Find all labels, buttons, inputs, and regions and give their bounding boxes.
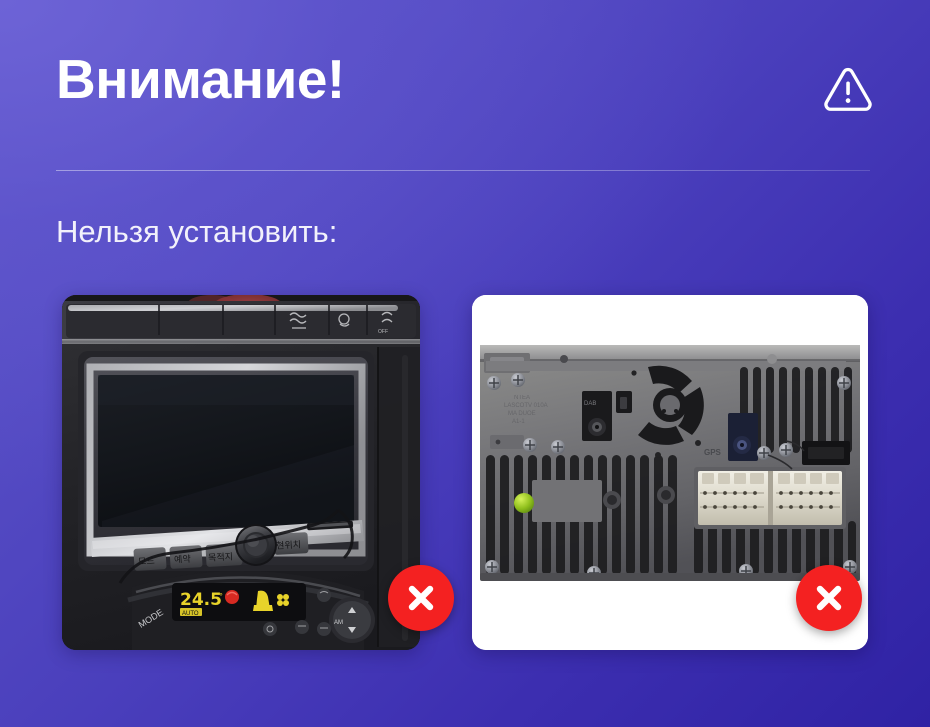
svg-text:24.5: 24.5 [180,590,222,610]
svg-text:예약: 예약 [174,553,191,566]
svg-text:°: ° [219,592,223,601]
svg-text:AUTO: AUTO [182,611,199,617]
subtitle-label: Нельзя установить: [56,214,337,250]
cross-x-icon [812,581,846,615]
warning-slide: Внимание! Нельзя установить: [0,0,930,727]
svg-text:GPS: GPS [704,448,722,457]
svg-text:A1-1: A1-1 [512,419,525,425]
photo-card-row: OFF [0,295,930,651]
svg-text:MA DUOE: MA DUOE [508,411,536,417]
cross-x-icon [404,581,438,615]
cross-x-badge-left [388,565,454,631]
car-dashboard-illustration: OFF [62,295,420,650]
page-title: Внимание! [56,52,345,107]
svg-text:LASCOTV 010A: LASCOTV 010A [504,403,548,409]
cross-x-badge-right [796,565,862,631]
warning-triangle-icon [820,62,876,118]
svg-text:DAB: DAB [584,401,596,407]
svg-text:OFF: OFF [378,329,388,335]
svg-text:NTEA: NTEA [514,395,530,401]
card-car-dashboard: OFF [62,295,420,650]
svg-text:AM: AM [334,620,343,626]
header-divider [56,170,870,171]
